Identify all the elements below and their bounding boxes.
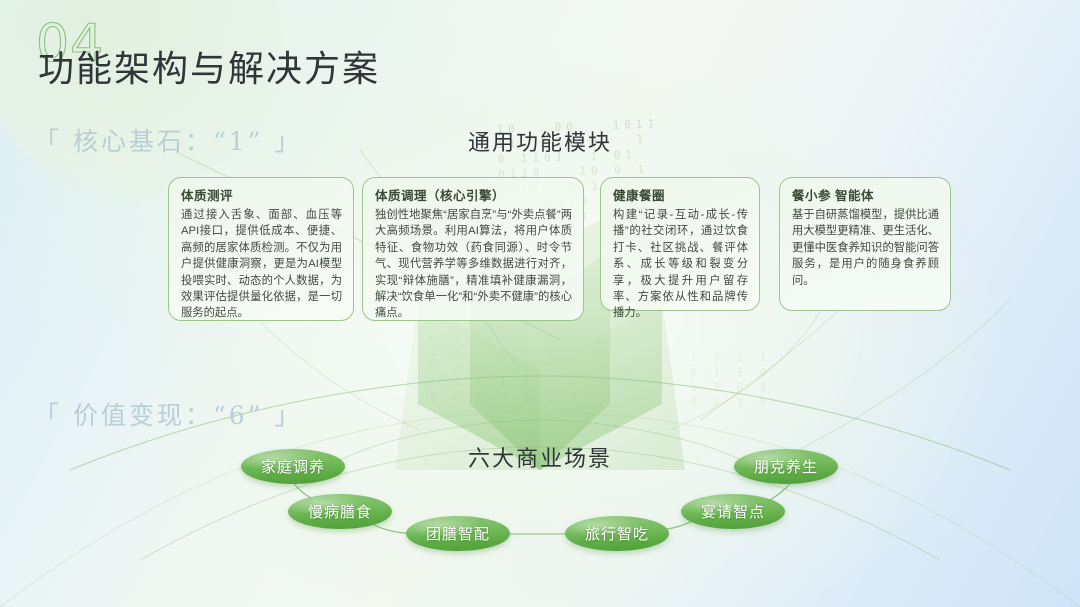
- module-card-3-title: 健康餐圈: [613, 188, 748, 204]
- scenario-pill-travel-dining[interactable]: 旅行智吃: [565, 516, 669, 551]
- slide-root: 10 00 1011 11 01000 1 0 1101 1 01 0110 1…: [0, 0, 1080, 607]
- module-card-1-title: 体质测评: [181, 188, 342, 204]
- scenario-pill-banquet[interactable]: 宴请智点: [681, 494, 785, 529]
- section-label-value: 「 价值变现：“6” 」: [34, 396, 302, 432]
- scenario-pill-family-care[interactable]: 家庭调养: [241, 449, 345, 484]
- scenario-pill-group-meal[interactable]: 团膳智配: [406, 516, 510, 551]
- module-card-1-body: 通过接入舌象、面部、血压等API接口，提供低成本、便捷、高频的居家体质检测。不仅…: [181, 207, 342, 322]
- module-card-4-body: 基于自研蒸馏模型，提供比通用大模型更精准、更生活化、更懂中医食养知识的智能问答服…: [792, 207, 939, 289]
- binary-texture-right: 1 0 0 1 0 1 1 0 1 1 0 1 0 0 1 0: [690, 350, 771, 410]
- module-card-1[interactable]: 体质测评 通过接入舌象、面部、血压等API接口，提供低成本、便捷、高频的居家体质…: [168, 177, 354, 321]
- page-title: 功能架构与解决方案: [38, 40, 380, 92]
- module-card-2[interactable]: 体质调理（核心引擎） 独创性地聚焦“居家自烹”与“外卖点餐”两大高频场景。利用A…: [362, 177, 584, 321]
- module-card-3[interactable]: 健康餐圈 构建“记录-互动-成长-传播”的社交闭环，通过饮食打卡、社区挑战、餐评…: [600, 177, 760, 311]
- scenario-pill-punk-health[interactable]: 朋克养生: [734, 449, 838, 484]
- module-card-4[interactable]: 餐小参 智能体 基于自研蒸馏模型，提供比通用大模型更精准、更生活化、更懂中医食养…: [779, 177, 951, 311]
- scenario-pill-chronic-diet[interactable]: 慢病膳食: [288, 494, 392, 529]
- module-card-2-title: 体质调理（核心引擎）: [375, 188, 572, 204]
- binary-texture-mid: 0 1 0 1 1 0 0 1 0 0 1 1 0 1 0 1 1 0 0 1 …: [430, 330, 581, 405]
- heading-business-scenarios: 六大商业场景: [0, 441, 1080, 473]
- module-card-2-body: 独创性地聚焦“居家自烹”与“外卖点餐”两大高频场景。利用AI算法，将用户体质特征…: [375, 207, 572, 322]
- heading-common-modules: 通用功能模块: [0, 125, 1080, 157]
- module-card-4-title: 餐小参 智能体: [792, 188, 939, 204]
- module-card-3-body: 构建“记录-互动-成长-传播”的社交闭环，通过饮食打卡、社区挑战、餐评体系、成长…: [613, 207, 748, 322]
